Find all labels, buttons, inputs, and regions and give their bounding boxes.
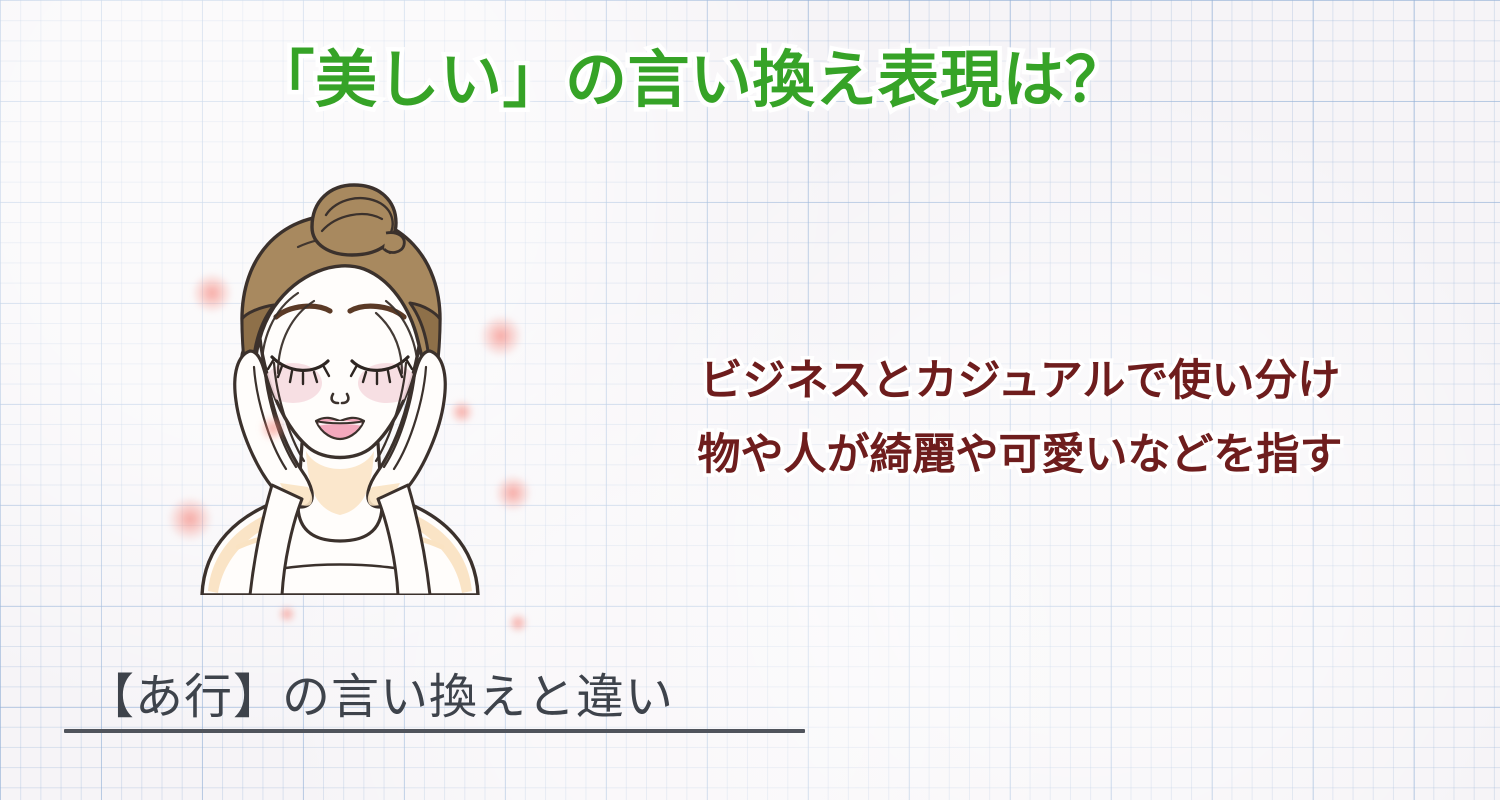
sparkle-dot bbox=[508, 613, 528, 633]
sparkle-dot bbox=[278, 605, 296, 623]
description-line: 物や人が綺麗や可愛いなどを指す bbox=[620, 419, 1420, 493]
page-title: 「美しい」の言い換え表現は？ bbox=[0, 44, 1380, 117]
section-heading: 【あ行】の言い換えと違い bbox=[86, 657, 674, 727]
description-line: ビジネスとカジュアルで使い分け bbox=[620, 345, 1420, 419]
description-block: ビジネスとカジュアルで使い分け 物や人が綺麗や可愛いなどを指す bbox=[620, 345, 1420, 493]
woman-touching-face-illustration bbox=[150, 175, 530, 595]
section-heading-underline bbox=[64, 729, 805, 733]
page-canvas: 「美しい」の言い換え表現は？ ビジネスとカジュアルで使い分け 物や人が綺麗や可愛… bbox=[0, 0, 1500, 800]
